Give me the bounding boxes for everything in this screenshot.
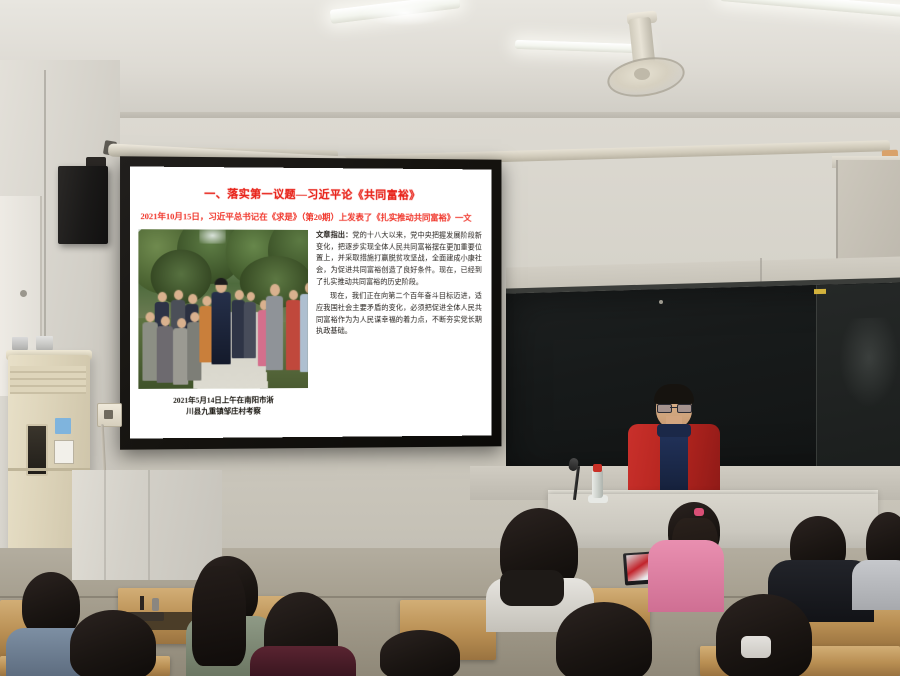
presenter-shirt xyxy=(660,428,688,494)
photo-person-head xyxy=(177,318,186,328)
student-head xyxy=(556,602,652,676)
photo-person xyxy=(142,322,157,381)
photo-person xyxy=(266,296,283,370)
glasses-bridge xyxy=(670,407,677,408)
presenter-collar xyxy=(657,424,691,437)
slide-paragraph-1-lead: 文章指出： xyxy=(316,231,352,239)
water-bottle[interactable] xyxy=(592,470,603,498)
projection-screen[interactable]: 一、落实第一议题—习近平论《共同富裕》 2021年10月15日，习近平总书记在《… xyxy=(130,166,491,438)
photo-person xyxy=(286,300,301,370)
hair-tie xyxy=(694,508,704,516)
photo-person xyxy=(173,328,188,385)
photo-person xyxy=(244,302,256,358)
student-scarf xyxy=(500,570,564,606)
photo-person-head xyxy=(190,312,199,322)
slide-body: 2021年5月14日上午在南阳市淅 川县九重镇邹庄村考察 文章指出：党的十八大以… xyxy=(138,229,484,432)
student-hair xyxy=(556,602,652,676)
light-glow xyxy=(360,0,450,26)
chalk-marker xyxy=(814,289,826,294)
glasses-icon xyxy=(657,404,691,411)
student-hair xyxy=(380,630,460,676)
presenter-hair xyxy=(654,384,694,404)
photo-person-head xyxy=(289,290,298,300)
slide-paragraph-1-text: 党的十八大以来，党中央把握发展阶段新变化，把逐步实现全体人民共同富裕摆在更加重要… xyxy=(316,231,482,286)
photo-person-head xyxy=(202,296,211,306)
ceiling-fan-hub xyxy=(634,68,650,80)
photo-person-head xyxy=(146,312,155,322)
student-shoulders-pink xyxy=(648,540,724,612)
photo-person-head xyxy=(158,292,167,302)
curtain-fold xyxy=(104,470,106,580)
student-shoulders xyxy=(250,646,356,676)
slide-right-column: 文章指出：党的十八大以来，党中央把握发展阶段新变化，把逐步实现全体人民共同富裕摆… xyxy=(316,230,484,431)
presentation-slide: 一、落实第一议题—习近平论《共同富裕》 2021年10月15日，习近平总书记在《… xyxy=(130,166,491,438)
glasses-lens-right xyxy=(677,404,692,413)
photo-person xyxy=(300,294,308,372)
student-head xyxy=(70,610,156,676)
student-hair xyxy=(716,594,812,676)
slide-left-column: 2021年5月14日上午在南阳市淅 川县九重镇邹庄村考察 xyxy=(138,229,308,432)
water-bottle-cap[interactable] xyxy=(593,464,602,472)
wall-speaker xyxy=(58,166,108,244)
door-knob-icon[interactable] xyxy=(20,290,27,297)
classroom-scene: 一、落实第一议题—习近平论《共同富裕》 2021年10月15日，习近平总书记在《… xyxy=(0,0,900,676)
air-conditioner-label xyxy=(54,440,74,464)
slide-title: 一、落实第一议题—习近平论《共同富裕》 xyxy=(138,185,484,203)
slide-photo xyxy=(138,229,308,389)
slide-paragraph-1: 文章指出：党的十八大以来，党中央把握发展阶段新变化，把逐步实现全体人民共同富裕摆… xyxy=(316,230,482,288)
curtain-fold xyxy=(148,470,150,580)
air-conditioner-grille xyxy=(10,366,86,394)
student-head xyxy=(716,594,812,676)
blackboard-screw xyxy=(659,300,663,304)
face-mask xyxy=(741,636,771,658)
photo-person xyxy=(157,326,173,383)
student-long-hair xyxy=(192,566,246,666)
photo-caption-line-2: 川县九重镇邹庄村考察 xyxy=(138,406,308,418)
photo-person-head xyxy=(161,316,170,326)
wall-outlet-socket-icon xyxy=(104,410,113,419)
student-hair xyxy=(70,610,156,676)
blackboard-chalk-smudge xyxy=(840,317,898,407)
slide-paragraph-2: 现在，我们正在向第二个百年奋斗目标迈进，适应我国社会主要矛盾的变化，必须把促进全… xyxy=(316,291,482,338)
photo-person-head xyxy=(235,290,244,300)
student-shoulders xyxy=(852,560,900,610)
slide-photo-caption: 2021年5月14日上午在南阳市淅 川县九重镇邹庄村考察 xyxy=(138,395,308,418)
slide-subtitle: 2021年10月15日，习近平总书记在《求是》（第20期）上发表了《扎实推动共同… xyxy=(140,210,483,224)
ceiling xyxy=(0,0,900,120)
air-conditioner-sticker xyxy=(55,418,71,434)
photo-central-figure-hair xyxy=(215,278,228,285)
sky-gap xyxy=(199,229,225,243)
photo-person-head xyxy=(247,292,255,301)
photo-person-head xyxy=(188,294,197,304)
photo-person-head xyxy=(270,284,280,296)
photo-person-head xyxy=(174,290,183,300)
glasses-lens-left xyxy=(657,404,672,413)
photo-central-figure xyxy=(212,292,231,364)
student-head xyxy=(380,630,460,676)
pen[interactable] xyxy=(140,596,144,610)
